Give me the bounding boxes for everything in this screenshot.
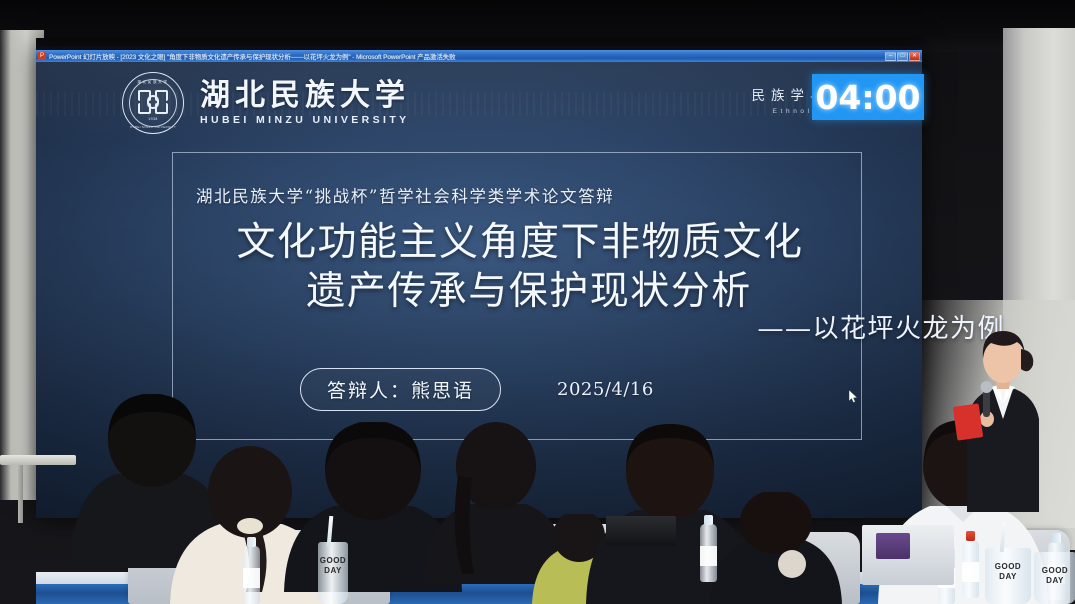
bottle-cap bbox=[966, 531, 975, 541]
seal-emblem-icon bbox=[138, 90, 168, 114]
podium-sign bbox=[876, 533, 910, 559]
bottle-label bbox=[243, 568, 260, 588]
university-seal-icon: 湖北民族大学 1938 HUBEI MINZU UNIVERSITY bbox=[122, 72, 184, 134]
university-name-block: 湖北民族大学 HUBEI MINZU UNIVERSITY bbox=[200, 80, 410, 126]
window-title: PowerPoint 幻灯片放映 - [2023 文化之眼] "角度下非物质文化… bbox=[49, 51, 882, 61]
bottle-label bbox=[962, 562, 979, 582]
university-name-cn: 湖北民族大学 bbox=[200, 80, 410, 112]
water-bottle bbox=[962, 540, 979, 598]
countdown-timer[interactable]: 04:00 bbox=[812, 74, 924, 120]
laptop-device bbox=[606, 516, 676, 546]
university-logo-block: 湖北民族大学 1938 HUBEI MINZU UNIVERSITY 湖北民族大… bbox=[122, 72, 410, 134]
cup-label: GOOD DAY bbox=[985, 562, 1031, 582]
window-controls[interactable]: – □ ✕ bbox=[885, 52, 920, 61]
drink-cup: GOOD DAY bbox=[1034, 552, 1075, 604]
university-name-en: HUBEI MINZU UNIVERSITY bbox=[200, 114, 410, 126]
countdown-timer-value: 04:00 bbox=[815, 81, 920, 114]
audience-person bbox=[700, 492, 850, 604]
drink-cup: GOOD DAY bbox=[318, 542, 348, 604]
water-bottle bbox=[243, 546, 260, 604]
slide-subtitle: 湖北民族大学“挑战杯”哲学社会科学类学术论文答辩 bbox=[196, 183, 816, 207]
scene-root: P PowerPoint 幻灯片放映 - [2023 文化之眼] "角度下非物质… bbox=[0, 0, 1075, 604]
powerpoint-icon: P bbox=[38, 52, 46, 60]
minimize-button[interactable]: – bbox=[885, 52, 896, 61]
close-button[interactable]: ✕ bbox=[909, 52, 920, 61]
maximize-button[interactable]: □ bbox=[897, 52, 908, 61]
presenter-person bbox=[937, 327, 1067, 512]
cup-label: GOOD DAY bbox=[318, 556, 348, 576]
slide-title-line-1: 文化功能主义角度下非物质文化 bbox=[180, 218, 860, 267]
water-bottle bbox=[700, 524, 717, 582]
slide-title: 文化功能主义角度下非物质文化 遗产传承与保护现状分析 bbox=[180, 218, 860, 316]
seal-top-text: 湖北民族大学 bbox=[123, 80, 183, 85]
cup-label: GOOD DAY bbox=[1034, 566, 1075, 586]
slide-case-example: ——以花坪火龙为例 bbox=[0, 308, 1047, 345]
bottle-label bbox=[700, 546, 717, 566]
drink-cup: GOOD DAY bbox=[985, 548, 1031, 604]
powerpoint-titlebar[interactable]: P PowerPoint 幻灯片放映 - [2023 文化之眼] "角度下非物质… bbox=[36, 50, 922, 62]
seal-bottom-text: HUBEI MINZU UNIVERSITY bbox=[123, 125, 183, 129]
seal-year: 1938 bbox=[123, 117, 183, 121]
